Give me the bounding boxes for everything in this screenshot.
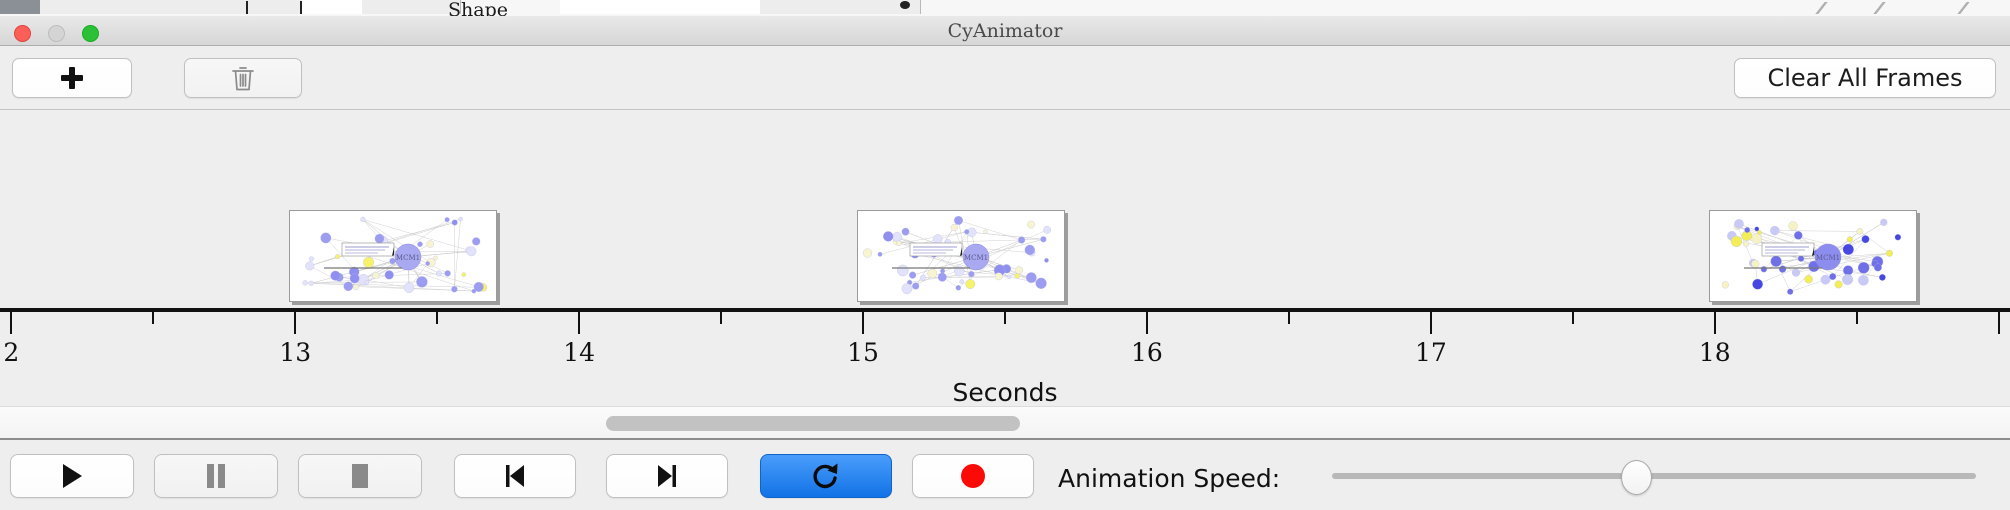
axis-tick-minor (436, 312, 438, 324)
axis-tick-label: 16 (1131, 338, 1163, 367)
axis-tick-minor (1572, 312, 1574, 324)
background-slash-icon (1957, 2, 1983, 14)
axis-tick-major (10, 312, 12, 334)
axis-tick-label: 2 (3, 338, 19, 367)
axis-tick-minor (1288, 312, 1290, 324)
svg-text:MCM1: MCM1 (964, 254, 988, 262)
pause-icon (204, 463, 228, 489)
background-chip (244, 0, 303, 14)
axis-tick-label: 14 (563, 338, 595, 367)
axis-tick-minor (720, 312, 722, 324)
axis-tick-major (578, 312, 580, 334)
loop-button[interactable] (760, 454, 892, 498)
clear-all-frames-button[interactable]: Clear All Frames (1734, 58, 1996, 98)
axis-tick-major (862, 312, 864, 334)
axis-tick-label: 17 (1415, 338, 1447, 367)
title-bar: CyAnimator (0, 16, 2010, 46)
pause-button[interactable] (154, 454, 278, 498)
timeline-panel[interactable]: MCM1 MCM1 MCM1 2131415161718 Seconds (0, 110, 2010, 406)
trash-icon (230, 64, 256, 92)
skip-previous-button[interactable] (454, 454, 576, 498)
background-chip (760, 0, 921, 14)
playback-bar: Animation Speed: (0, 442, 2010, 510)
background-chip (188, 0, 245, 14)
axis-title: Seconds (0, 378, 2010, 406)
background-dot-icon (900, 1, 910, 9)
background-tick-icon (246, 1, 248, 14)
toolbar: Clear All Frames (0, 46, 2010, 110)
background-chip (78, 0, 189, 14)
clear-all-frames-label: Clear All Frames (1767, 64, 1962, 92)
stop-button[interactable] (298, 454, 422, 498)
axis-tick-label: 18 (1699, 338, 1731, 367)
scrollbar-thumb[interactable] (606, 416, 1020, 431)
background-tick-icon (300, 1, 302, 14)
axis-tick-minor (1004, 312, 1006, 324)
stop-icon (348, 463, 372, 489)
record-icon (961, 464, 985, 488)
play-icon (59, 462, 85, 490)
background-chip (0, 0, 41, 14)
animation-speed-slider-thumb[interactable] (1621, 460, 1652, 495)
background-window: Shape (0, 0, 2010, 17)
window-title: CyAnimator (0, 16, 2010, 46)
axis-tick-major (1146, 312, 1148, 334)
axis-tick-major (294, 312, 296, 334)
background-chip (302, 0, 363, 14)
background-slash-icon (1815, 2, 1841, 14)
background-chip (40, 0, 79, 14)
record-button[interactable] (912, 454, 1034, 498)
svg-text:MCM1: MCM1 (1816, 254, 1840, 262)
loop-icon (812, 461, 840, 491)
axis-tick-major (1714, 312, 1716, 334)
frame-thumbnail[interactable]: MCM1 (289, 210, 497, 302)
frame-thumbnail[interactable]: MCM1 (1709, 210, 1917, 302)
svg-text:MCM1: MCM1 (396, 254, 420, 262)
skip-previous-icon (502, 463, 528, 489)
play-button[interactable] (10, 454, 134, 498)
axis-tick-label: 15 (847, 338, 879, 367)
skip-next-icon (654, 463, 680, 489)
plus-icon (60, 66, 84, 90)
animation-speed-slider[interactable] (1332, 473, 1976, 479)
axis-tick-major (1430, 312, 1432, 334)
background-slash-icon (1873, 2, 1899, 14)
horizontal-scrollbar[interactable] (0, 406, 2010, 440)
background-chip (362, 0, 461, 14)
delete-frame-button[interactable] (184, 58, 302, 98)
skip-next-button[interactable] (606, 454, 728, 498)
frame-thumbnail[interactable]: MCM1 (857, 210, 1065, 302)
axis-tick-minor (1856, 312, 1858, 324)
axis-tick-label: 13 (279, 338, 311, 367)
axis-tick-major (1998, 312, 2000, 334)
animation-speed-label: Animation Speed: (1058, 464, 1280, 493)
background-shape-label: Shape (448, 0, 508, 17)
background-chip (560, 0, 761, 14)
add-frame-button[interactable] (12, 58, 132, 98)
axis-tick-minor (152, 312, 154, 324)
